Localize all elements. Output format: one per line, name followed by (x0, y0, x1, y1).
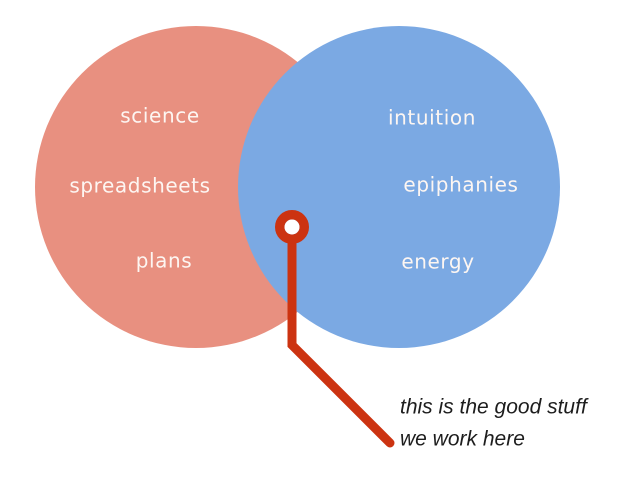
annotation-line-1: this is the good stuff (400, 396, 589, 419)
left-set-label-plans: plans (136, 249, 193, 273)
left-set-label-science: science (120, 104, 199, 128)
right-set-label-intuition: intuition (388, 106, 476, 130)
here-marker-center (285, 220, 300, 235)
venn-diagram-svg: sciencespreadsheetsplans intuitionepipha… (0, 0, 643, 478)
venn-diagram-canvas: sciencespreadsheetsplans intuitionepipha… (0, 0, 643, 478)
right-set-label-energy: energy (401, 250, 474, 274)
annotation-line-2: we work here (400, 428, 525, 451)
right-set-label-epiphanies: epiphanies (403, 173, 518, 197)
left-set-label-spreadsheets: spreadsheets (69, 174, 210, 198)
